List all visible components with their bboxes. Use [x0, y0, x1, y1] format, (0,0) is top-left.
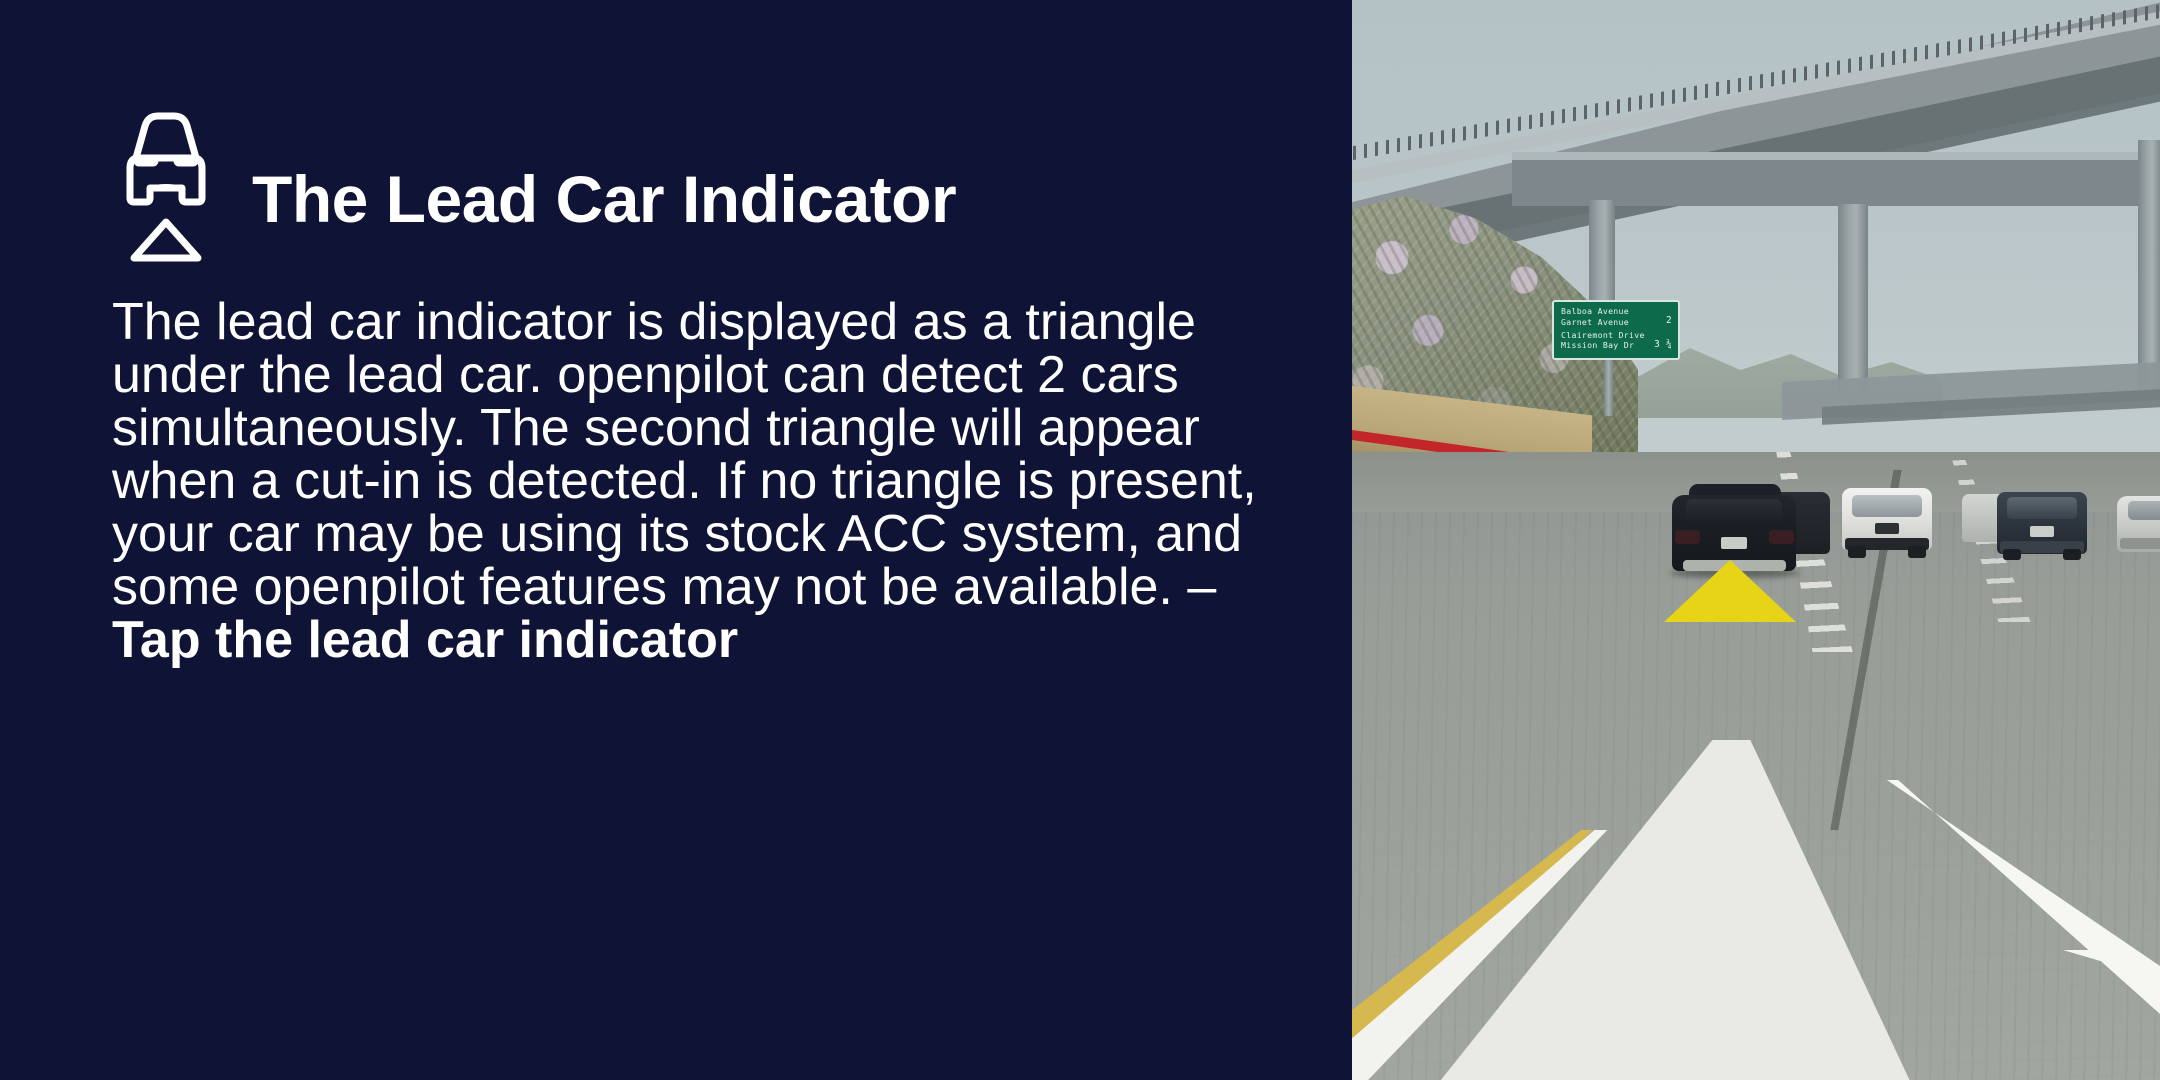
info-panel: The Lead Car Indicator The lead car indi…: [0, 0, 1352, 1080]
overpass-column-right: [2138, 140, 2160, 390]
body-copy: The lead car indicator is displayed as a…: [112, 296, 1292, 667]
white-suv-window: [1852, 495, 1922, 517]
overpass-column-center: [1838, 204, 1868, 394]
highway-dashcam-photo: Balboa Avenue Garnet Avenue 2 Clairemont…: [1352, 0, 2160, 1080]
sign-destination-3: Clairemont Drive: [1561, 331, 1645, 340]
sign-destination-2: Garnet Avenue: [1561, 318, 1629, 327]
white-suv-plate: [1875, 523, 1899, 534]
blue-pickup-window: [2007, 497, 2077, 519]
blue-pickup-wheel-right: [2063, 549, 2081, 560]
white-suv-wheel-left: [1848, 546, 1866, 558]
lead-car-indicator-screen: The Lead Car Indicator The lead car indi…: [0, 0, 2160, 1080]
blue-pickup-wheel-left: [2003, 549, 2021, 560]
lead-car-plate: [1721, 537, 1747, 549]
lead-car-window: [1686, 499, 1782, 525]
panel-header: The Lead Car Indicator: [112, 104, 956, 276]
sign-destination-4: Mission Bay Dr: [1561, 341, 1634, 350]
silver-car-bumper: [2120, 538, 2160, 549]
body-text: The lead car indicator is displayed as a…: [112, 293, 1257, 616]
lead-car-indicator-icon: [112, 106, 220, 266]
page-title: The Lead Car Indicator: [252, 148, 956, 232]
silver-car-window: [2128, 501, 2160, 520]
blue-pickup-plate: [2030, 526, 2054, 537]
sign-destination-1: Balboa Avenue: [1561, 307, 1629, 316]
lead-car-taillight-left: [1675, 530, 1700, 544]
body-text-emphasis: Tap the lead car indicator: [112, 611, 738, 669]
sign-distance-1: 2: [1666, 316, 1672, 327]
highway-guide-sign: Balboa Avenue Garnet Avenue 2 Clairemont…: [1552, 300, 1680, 360]
white-suv-wheel-right: [1908, 546, 1926, 558]
sign-distance-2: 3 ¾: [1654, 340, 1672, 351]
lead-car-indicator-triangle[interactable]: [1664, 560, 1796, 622]
lead-car-taillight-right: [1769, 530, 1794, 544]
sign-post: [1604, 358, 1613, 416]
